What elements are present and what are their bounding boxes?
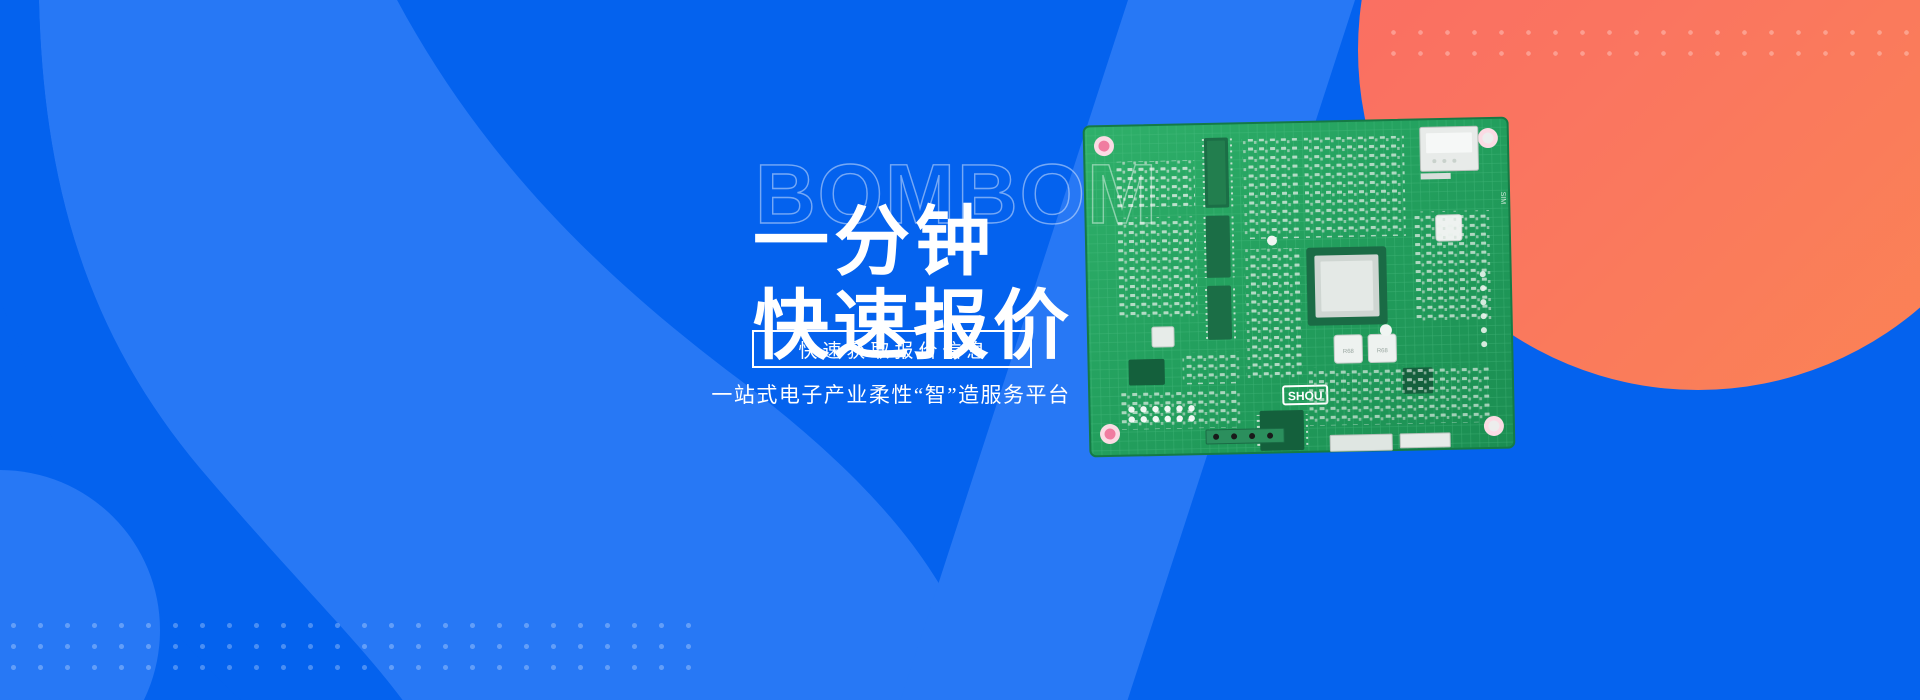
hero-content: BOMBOM 一分钟 快速报价 快速获取报价信息 一站式电子产业柔性“智”造服务…: [0, 0, 1920, 700]
cta-badge[interactable]: 快速获取报价信息: [752, 330, 1032, 368]
headline-line-1: 一分钟: [753, 200, 996, 285]
cta-badge-label: 快速获取报价信息: [793, 336, 990, 363]
subtitle: 一站式电子产业柔性“智”造服务平台: [686, 379, 1096, 409]
promo-banner: SIM R68 R6: [0, 0, 1920, 700]
